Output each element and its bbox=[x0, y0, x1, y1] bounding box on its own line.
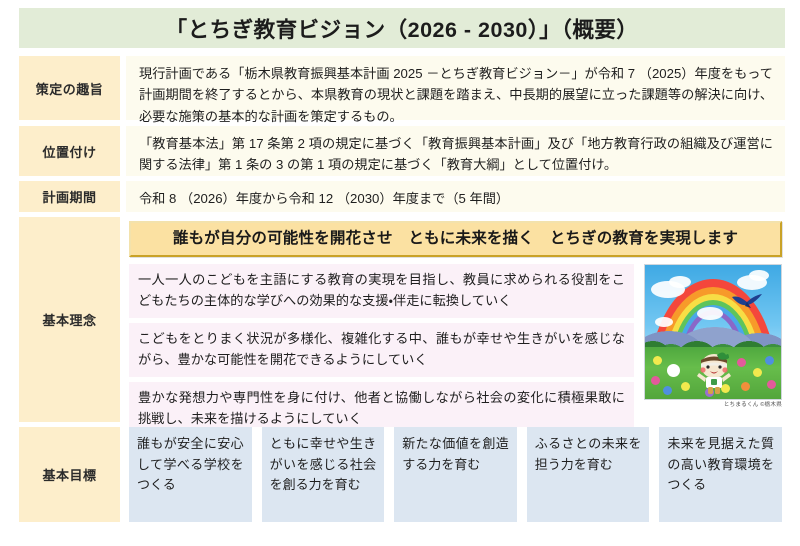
ideal-item: 一人一人のこどもを主語にする教育の実現を目指し、教員に求められる役割をこどもたち… bbox=[129, 264, 634, 318]
period-text: 令和 8 （2026）年度から令和 12 （2030）年度まで（5 年間） bbox=[139, 188, 773, 209]
row-body-position: 「教育基本法」第 17 条第 2 項の規定に基づく「教育振興基本計画」及び「地方… bbox=[126, 126, 785, 176]
cloud-icon bbox=[697, 307, 723, 320]
document-page: 「とちぎ教育ビジョン（2026 - 2030）」（概要） 策定の趣旨 現行計画で… bbox=[0, 0, 800, 546]
goal-box: 未来を見据えた質の高い教育環境をつくる bbox=[659, 427, 782, 522]
document-header: 「とちぎ教育ビジョン（2026 - 2030）」（概要） bbox=[19, 8, 785, 48]
row-label-purpose: 策定の趣旨 bbox=[19, 56, 120, 120]
row-body-period: 令和 8 （2026）年度から令和 12 （2030）年度まで（5 年間） bbox=[126, 181, 785, 212]
flower-icon bbox=[767, 380, 776, 389]
purpose-text: 現行計画である「栃木県教育振興基本計画 2025 －とちぎ教育ビジョン－」が令和… bbox=[139, 63, 773, 127]
tochimaru-mascot-icon bbox=[695, 349, 733, 395]
row-position: 位置付け 「教育基本法」第 17 条第 2 項の規定に基づく「教育振興基本計画」… bbox=[19, 126, 785, 176]
row-label-basic-ideal: 基本理念 bbox=[19, 217, 120, 422]
position-text: 「教育基本法」第 17 条第 2 項の規定に基づく「教育振興基本計画」及び「地方… bbox=[139, 133, 773, 176]
flower-icon bbox=[765, 356, 774, 365]
row-body-basic-goals: 誰もが安全に安心して学べる学校をつくる ともに幸せや生きがいを感じる社会を創る力… bbox=[126, 427, 785, 522]
mascot-block: とちまるくん ©栃木県 bbox=[642, 264, 782, 410]
goal-box: 新たな価値を創造する力を育む bbox=[394, 427, 517, 522]
flower-icon bbox=[737, 358, 746, 367]
flower-icon bbox=[653, 356, 662, 365]
flower-icon bbox=[651, 376, 660, 385]
cloud-icon bbox=[669, 276, 691, 288]
row-period: 計画期間 令和 8 （2026）年度から令和 12 （2030）年度まで（5 年… bbox=[19, 181, 785, 212]
page-title: 「とちぎ教育ビジョン（2026 - 2030）」（概要） bbox=[166, 13, 639, 44]
row-label-position: 位置付け bbox=[19, 126, 120, 176]
cloud-icon bbox=[749, 270, 769, 281]
goal-box: ともに幸せや生きがいを感じる社会を創る力を育む bbox=[262, 427, 385, 522]
flower-icon bbox=[753, 368, 762, 377]
ideal-area: 一人一人のこどもを主語にする教育の実現を目指し、教員に求められる役割をこどもたち… bbox=[126, 264, 785, 435]
row-label-basic-goals: 基本目標 bbox=[19, 427, 120, 522]
flower-icon bbox=[667, 364, 680, 377]
ideal-list: 一人一人のこどもを主語にする教育の実現を目指し、教員に求められる役割をこどもたち… bbox=[129, 264, 634, 435]
flower-icon bbox=[741, 382, 750, 391]
bird-icon bbox=[731, 293, 763, 311]
flower-icon bbox=[663, 386, 672, 395]
row-purpose: 策定の趣旨 現行計画である「栃木県教育振興基本計画 2025 －とちぎ教育ビジョ… bbox=[19, 56, 785, 120]
slogan-text: 誰もが自分の可能性を開花させ ともに未来を描く とちぎの教育を実現します bbox=[173, 226, 738, 251]
ideal-item: こどもをとりまく状況が多様化、複雑化する中、誰もが幸せや生きがいを感じながら、豊… bbox=[129, 323, 634, 377]
slogan-banner: 誰もが自分の可能性を開花させ ともに未来を描く とちぎの教育を実現します bbox=[129, 221, 782, 257]
mascot-caption: とちまるくん ©栃木県 bbox=[644, 401, 782, 410]
flower-icon bbox=[681, 382, 690, 391]
goal-box: ふるさとの未来を担う力を育む bbox=[527, 427, 650, 522]
row-basic-ideal: 基本理念 誰もが自分の可能性を開花させ ともに未来を描く とちぎの教育を実現しま… bbox=[19, 217, 785, 422]
row-body-purpose: 現行計画である「栃木県教育振興基本計画 2025 －とちぎ教育ビジョン－」が令和… bbox=[126, 56, 785, 120]
row-label-period: 計画期間 bbox=[19, 181, 120, 212]
mascot-illustration bbox=[644, 264, 782, 400]
row-basic-goals: 基本目標 誰もが安全に安心して学べる学校をつくる ともに幸せや生きがいを感じる社… bbox=[19, 427, 785, 522]
row-body-basic-ideal: 誰もが自分の可能性を開花させ ともに未来を描く とちぎの教育を実現します 一人一… bbox=[126, 217, 785, 422]
goal-box: 誰もが安全に安心して学べる学校をつくる bbox=[129, 427, 252, 522]
goal-area: 誰もが安全に安心して学べる学校をつくる ともに幸せや生きがいを感じる社会を創る力… bbox=[126, 427, 785, 522]
